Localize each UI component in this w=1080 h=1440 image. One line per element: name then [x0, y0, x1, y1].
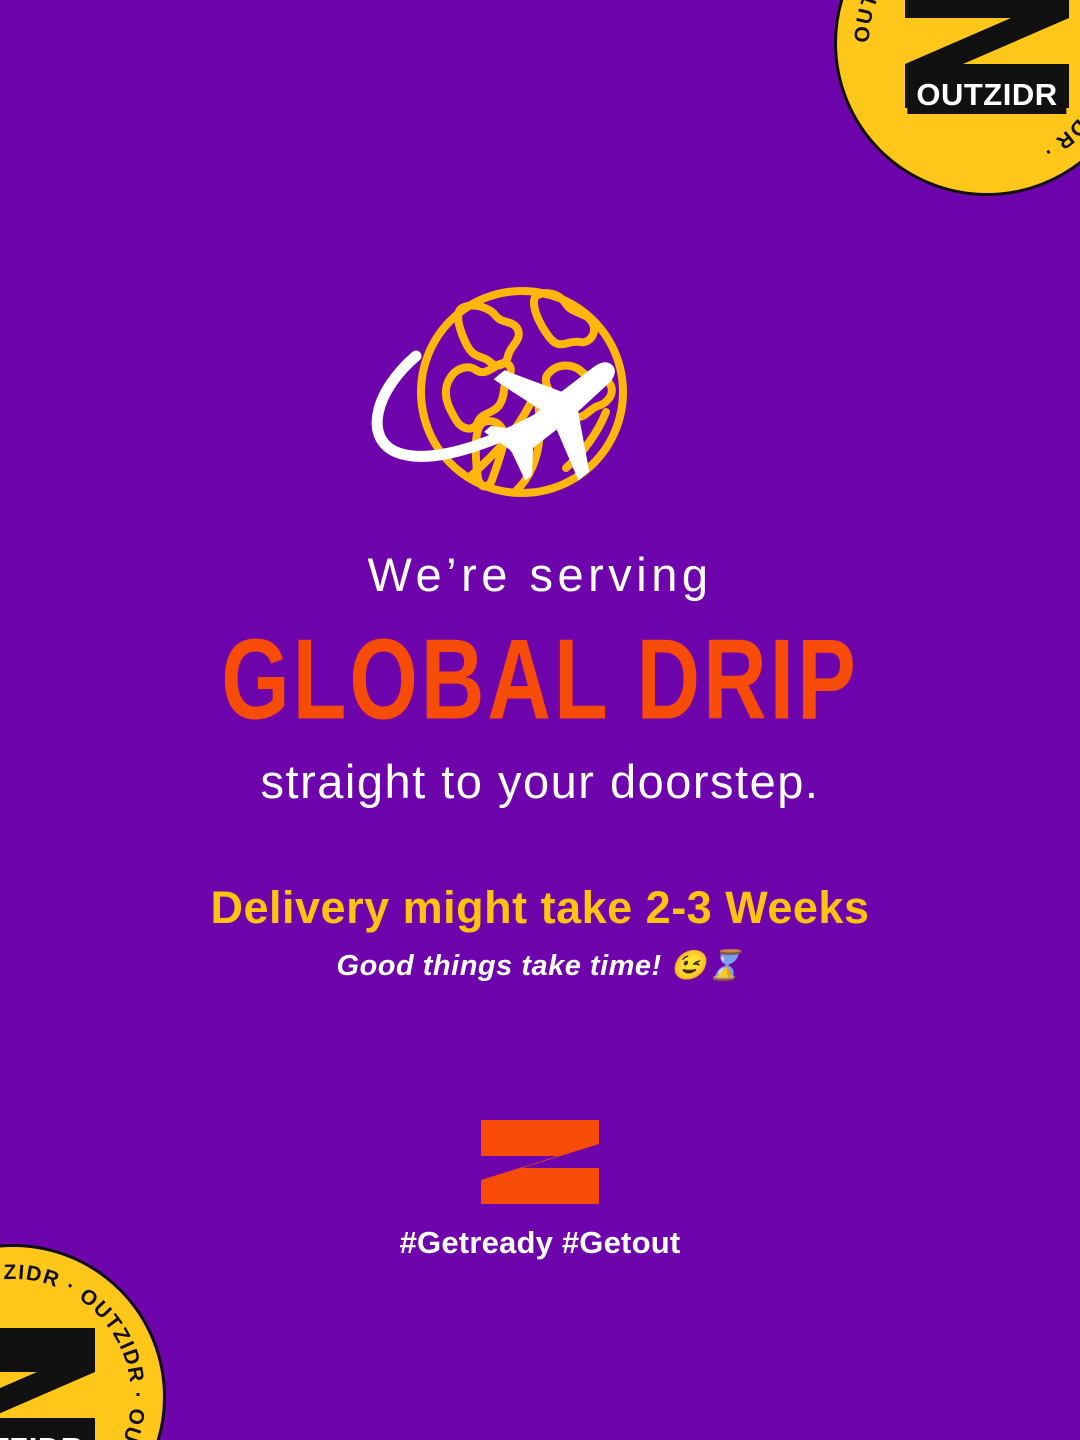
kicker-text: We’re serving [0, 548, 1080, 602]
z-mark-icon [0, 1322, 111, 1440]
globe-airplane-icon [350, 272, 730, 522]
badge-core: OUTZIDR [0, 1322, 111, 1440]
delivery-note-text: Good things take time! 😉⌛ [0, 949, 1080, 984]
badge-wordmark: OUTZIDR [907, 76, 1066, 114]
headline-text: GLOBAL DRIP [0, 616, 1080, 744]
subline-text: straight to your doorstep. [0, 755, 1080, 809]
footer-block: #Getready #Getout [0, 1118, 1080, 1261]
badge-wordmark: OUTZIDR [0, 1430, 93, 1440]
delivery-notice-text: Delivery might take 2-3 Weeks [0, 881, 1080, 935]
brand-badge-top-right: OUTZIDR · OUTZIDR · OUTZIDR · OUTZIDR · … [834, 0, 1080, 196]
headline-copy-block: We’re serving GLOBAL DRIP straight to yo… [0, 548, 1080, 983]
brand-badge-bottom-left: OUTZIDR · OUTZIDR · OUTZIDR · OUTZIDR · … [0, 1244, 166, 1440]
outzidr-z-logo [478, 1118, 602, 1206]
poster-canvas: OUTZIDR · OUTZIDR · OUTZIDR · OUTZIDR · … [0, 0, 1080, 1440]
badge-core: OUTZIDR [889, 0, 1080, 118]
